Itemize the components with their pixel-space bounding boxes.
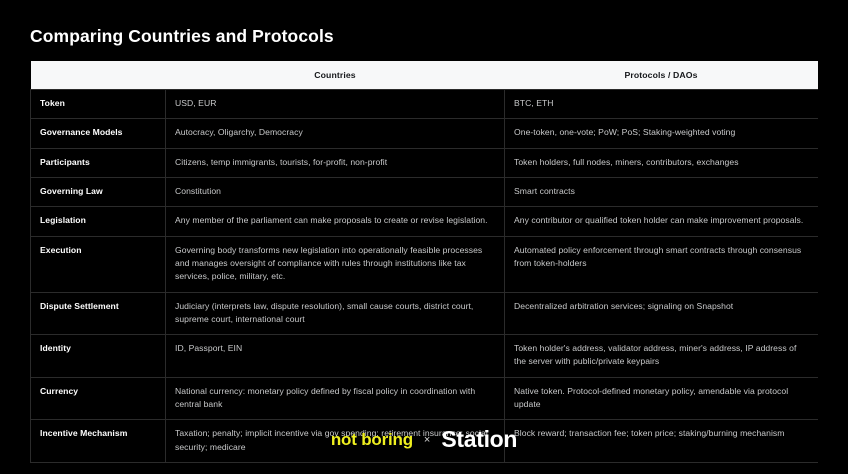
cell-countries: Any member of the parliament can make pr… (166, 207, 505, 236)
collab-separator-icon: × (424, 435, 430, 446)
row-label: Token (31, 90, 166, 119)
row-label: Currency (31, 377, 166, 420)
table-row: Governing Law Constitution Smart contrac… (31, 177, 818, 206)
cell-countries: ID, Passport, EIN (166, 335, 505, 378)
cell-protocols: Any contributor or qualified token holde… (505, 207, 818, 236)
cell-protocols: Native token. Protocol-defined monetary … (505, 377, 818, 420)
row-label: Participants (31, 148, 166, 177)
cell-protocols: Token holders, full nodes, miners, contr… (505, 148, 818, 177)
footer-logos: not boring × Station (0, 428, 848, 451)
cell-countries: Autocracy, Oligarchy, Democracy (166, 119, 505, 148)
table-row: Identity ID, Passport, EIN Token holder'… (31, 335, 818, 378)
cell-protocols: Token holder's address, validator addres… (505, 335, 818, 378)
table-header: Countries Protocols / DAOs (31, 61, 818, 90)
cell-protocols: Smart contracts (505, 177, 818, 206)
cell-protocols: One-token, one-vote; PoW; PoS; Staking-w… (505, 119, 818, 148)
table-row: Currency National currency: monetary pol… (31, 377, 818, 420)
column-header-attribute (31, 61, 166, 90)
table-header-row: Countries Protocols / DAOs (31, 61, 818, 90)
cell-countries: Constitution (166, 177, 505, 206)
row-label: Governing Law (31, 177, 166, 206)
cell-countries: National currency: monetary policy defin… (166, 377, 505, 420)
slide-root: Comparing Countries and Protocols Countr… (0, 0, 848, 474)
table-row: Token USD, EUR BTC, ETH (31, 90, 818, 119)
page-title: Comparing Countries and Protocols (30, 26, 334, 47)
cell-countries: Citizens, temp immigrants, tourists, for… (166, 148, 505, 177)
cell-countries: Judiciary (interprets law, dispute resol… (166, 292, 505, 335)
column-header-protocols: Protocols / DAOs (505, 61, 818, 90)
cell-protocols: BTC, ETH (505, 90, 818, 119)
row-label: Legislation (31, 207, 166, 236)
row-label: Dispute Settlement (31, 292, 166, 335)
table-row: Dispute Settlement Judiciary (interprets… (31, 292, 818, 335)
cell-countries: USD, EUR (166, 90, 505, 119)
table-row: Legislation Any member of the parliament… (31, 207, 818, 236)
table-row: Execution Governing body transforms new … (31, 236, 818, 292)
table-row: Participants Citizens, temp immigrants, … (31, 148, 818, 177)
cell-countries: Governing body transforms new legislatio… (166, 236, 505, 292)
row-label: Identity (31, 335, 166, 378)
table-row: Governance Models Autocracy, Oligarchy, … (31, 119, 818, 148)
cell-protocols: Decentralized arbitration services; sign… (505, 292, 818, 335)
row-label: Execution (31, 236, 166, 292)
comparison-table: Countries Protocols / DAOs Token USD, EU… (30, 61, 818, 463)
table-body: Token USD, EUR BTC, ETH Governance Model… (31, 90, 818, 463)
column-header-countries: Countries (166, 61, 505, 90)
cell-protocols: Automated policy enforcement through sma… (505, 236, 818, 292)
not-boring-logo: not boring (331, 431, 413, 448)
row-label: Governance Models (31, 119, 166, 148)
station-logo: Station (441, 428, 517, 451)
